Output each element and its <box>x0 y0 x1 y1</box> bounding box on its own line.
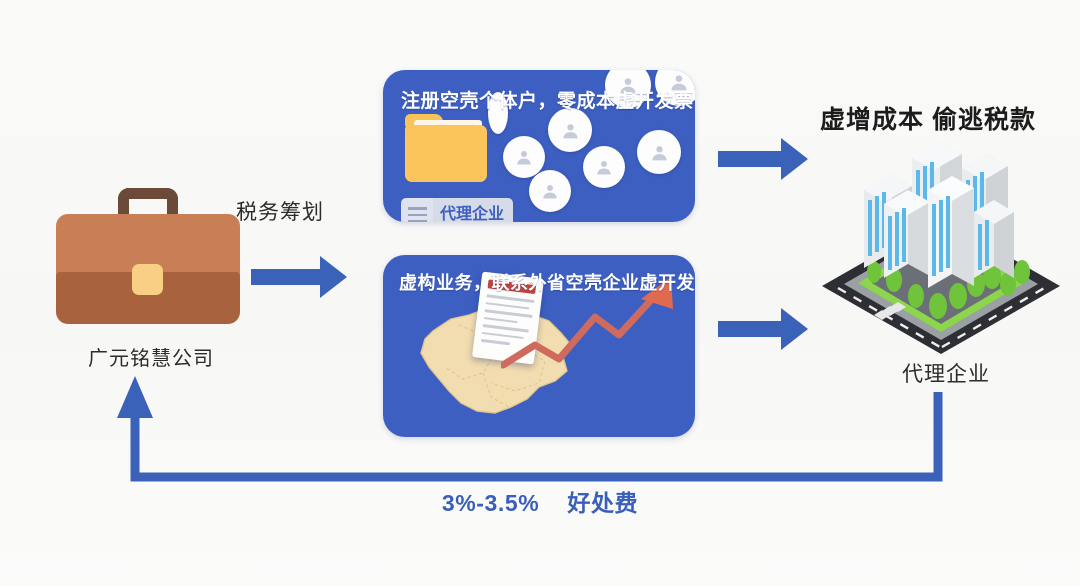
arrow-shaft <box>718 151 784 167</box>
card-title: 注册空壳个体户，零成本虚开发票 <box>401 86 694 113</box>
arrow-right-icon-card1-out <box>718 138 808 180</box>
card-shell-registration[interactable]: 注册空壳个体户，零成本虚开发票 <box>383 70 695 222</box>
isometric-city-buildings-icon <box>816 128 1066 354</box>
agent-enterprise-tag-label: 代理企业 <box>433 198 513 222</box>
arrow-shaft <box>251 269 323 285</box>
arrow-head <box>320 256 347 298</box>
user-avatar-icon <box>529 170 571 212</box>
arrow-head <box>781 308 808 350</box>
agent-enterprise-tag[interactable]: 代理企业 <box>401 198 513 222</box>
user-avatar-icon <box>503 136 545 178</box>
feedback-percent: 3%-3.5% <box>442 490 540 516</box>
folder-body <box>405 125 487 182</box>
card-title: 虚构业务，联系外省空壳企业虚开发票 <box>399 269 695 295</box>
arrow-right-icon-card2-out <box>718 308 808 350</box>
user-avatar-icon <box>548 108 592 152</box>
arrow-up-icon <box>117 376 153 418</box>
source-entity-label: 广元铭慧公司 <box>56 342 246 371</box>
diagram-canvas: 广元铭慧公司 税务筹划 注册空壳个体户，零成本虚开发票 <box>0 0 1080 586</box>
arrow-shaft <box>718 321 784 337</box>
arrow-right-icon-step <box>251 256 347 298</box>
user-avatar-icon <box>637 130 681 174</box>
user-avatar-icon <box>583 146 625 188</box>
folder-icon <box>405 114 487 182</box>
flow-step-label: 税务筹划 <box>236 196 324 226</box>
briefcase-icon <box>56 188 240 324</box>
briefcase-clasp <box>132 264 163 295</box>
feedback-amount-row: 3%-3.5% 好处费 <box>0 484 1080 518</box>
arrow-head <box>781 138 808 180</box>
list-lines-icon <box>401 198 433 222</box>
feedback-label: 好处费 <box>567 490 638 516</box>
